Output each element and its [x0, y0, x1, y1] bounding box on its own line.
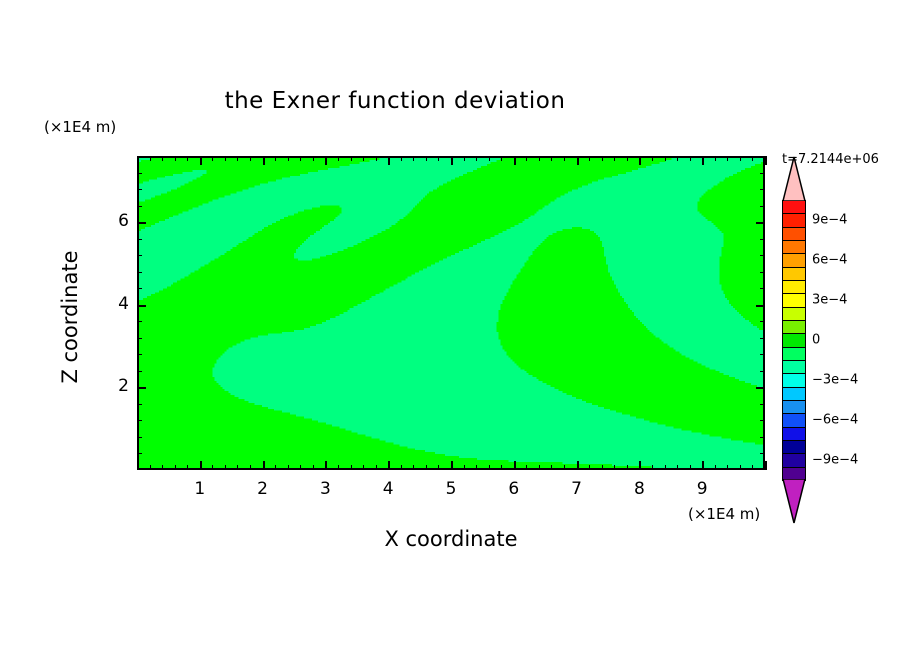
x-tick — [652, 156, 653, 161]
colorbar-band — [782, 440, 806, 454]
x-tick — [690, 465, 691, 470]
x-axis-unit-label: (×1E4 m) — [688, 505, 760, 523]
colorbar — [782, 200, 806, 480]
x-tick — [376, 465, 377, 470]
y-tick — [760, 173, 765, 174]
x-tick — [526, 156, 527, 161]
y-tick — [137, 338, 142, 339]
x-tick — [564, 465, 565, 470]
y-tick — [760, 338, 765, 339]
colorbar-under-arrow — [782, 479, 806, 524]
x-tick — [162, 156, 163, 161]
x-tick — [715, 156, 716, 161]
colorbar-over-arrow — [782, 156, 806, 201]
contour-plot-area — [137, 156, 765, 470]
colorbar-tick-label: 9e−4 — [812, 213, 847, 228]
x-tick — [765, 461, 767, 470]
x-tick — [740, 156, 741, 161]
x-tick — [727, 465, 728, 470]
x-tick — [589, 156, 590, 161]
x-tick — [438, 156, 439, 161]
x-tick — [514, 156, 516, 165]
y-tick — [760, 272, 765, 273]
x-tick — [665, 465, 666, 470]
x-tick — [300, 156, 301, 161]
x-tick — [489, 156, 490, 161]
colorbar-band — [782, 227, 806, 241]
x-tick — [363, 156, 364, 161]
x-tick — [577, 461, 579, 470]
x-tick — [677, 465, 678, 470]
x-tick — [338, 465, 339, 470]
y-tick — [756, 387, 765, 389]
x-tick — [602, 465, 603, 470]
x-tick — [451, 461, 453, 470]
y-tick — [137, 272, 142, 273]
x-tick-label: 1 — [180, 479, 220, 499]
y-tick — [760, 321, 765, 322]
y-tick — [137, 222, 146, 224]
chart-title: the Exner function deviation — [0, 88, 790, 114]
y-tick — [137, 321, 142, 322]
colorbar-band — [782, 400, 806, 414]
x-tick — [225, 156, 226, 161]
y-tick — [756, 222, 765, 224]
x-tick-label: 3 — [305, 479, 345, 499]
x-tick — [162, 465, 163, 470]
y-tick — [137, 437, 142, 438]
x-tick — [313, 465, 314, 470]
y-tick — [760, 453, 765, 454]
colorbar-band — [782, 213, 806, 227]
x-tick — [614, 156, 615, 161]
colorbar-band — [782, 347, 806, 361]
colorbar-band — [782, 240, 806, 254]
y-axis-unit-label: (×1E4 m) — [44, 118, 116, 136]
x-tick — [313, 156, 314, 161]
x-tick — [212, 465, 213, 470]
x-tick — [727, 156, 728, 161]
x-tick — [639, 156, 641, 165]
figure-canvas: the Exner function deviation (×1E4 m) (×… — [0, 0, 904, 654]
x-tick — [288, 156, 289, 161]
x-tick — [514, 461, 516, 470]
y-tick — [137, 189, 142, 190]
y-tick — [137, 404, 142, 405]
y-tick — [137, 255, 142, 256]
y-tick — [137, 305, 146, 307]
colorbar-tick-label: −9e−4 — [812, 453, 858, 468]
y-tick — [137, 420, 142, 421]
x-tick — [702, 156, 704, 165]
x-tick — [614, 465, 615, 470]
x-tick — [187, 465, 188, 470]
y-tick — [137, 453, 142, 454]
x-tick — [200, 156, 202, 165]
colorbar-band — [782, 293, 806, 307]
colorbar-band — [782, 200, 806, 214]
x-tick — [665, 156, 666, 161]
x-tick — [426, 465, 427, 470]
x-tick — [639, 461, 641, 470]
colorbar-tick-label: −6e−4 — [812, 413, 858, 428]
y-tick-label: 2 — [99, 376, 129, 396]
x-tick — [589, 465, 590, 470]
x-tick — [752, 465, 753, 470]
x-tick — [237, 156, 238, 161]
x-tick — [363, 465, 364, 470]
y-tick — [756, 305, 765, 307]
colorbar-tick-label: 6e−4 — [812, 253, 847, 268]
x-tick — [564, 156, 565, 161]
x-tick — [351, 465, 352, 470]
y-tick — [760, 404, 765, 405]
x-tick — [501, 465, 502, 470]
x-tick — [388, 156, 390, 165]
y-tick — [137, 173, 142, 174]
x-tick — [401, 465, 402, 470]
y-tick — [137, 371, 142, 372]
x-tick — [237, 465, 238, 470]
x-tick — [225, 465, 226, 470]
colorbar-tick-label: 0 — [812, 333, 820, 348]
x-tick — [325, 461, 327, 470]
x-tick — [413, 156, 414, 161]
x-tick — [765, 156, 767, 165]
x-tick — [652, 465, 653, 470]
x-tick — [325, 156, 327, 165]
x-tick — [187, 156, 188, 161]
x-tick — [376, 156, 377, 161]
colorbar-band — [782, 280, 806, 294]
colorbar-band — [782, 267, 806, 281]
x-tick — [539, 156, 540, 161]
colorbar-tick-label: 3e−4 — [812, 293, 847, 308]
y-tick-label: 6 — [99, 211, 129, 231]
x-tick — [388, 461, 390, 470]
colorbar-band — [782, 253, 806, 267]
y-tick-label: 4 — [99, 294, 129, 314]
x-tick — [677, 156, 678, 161]
x-tick — [150, 465, 151, 470]
x-tick — [175, 465, 176, 470]
x-tick — [602, 156, 603, 161]
y-tick — [760, 420, 765, 421]
y-tick — [760, 189, 765, 190]
x-tick — [338, 156, 339, 161]
x-tick — [627, 465, 628, 470]
x-tick — [175, 156, 176, 161]
x-tick — [715, 465, 716, 470]
y-tick — [760, 206, 765, 207]
x-tick — [690, 156, 691, 161]
colorbar-band — [782, 333, 806, 347]
x-tick — [702, 461, 704, 470]
x-tick — [551, 156, 552, 161]
y-tick — [760, 354, 765, 355]
x-tick-label: 8 — [619, 479, 659, 499]
x-tick — [200, 461, 202, 470]
x-tick — [438, 465, 439, 470]
x-tick — [539, 465, 540, 470]
x-tick — [489, 465, 490, 470]
x-tick — [740, 465, 741, 470]
x-tick — [275, 156, 276, 161]
x-tick — [464, 156, 465, 161]
x-tick — [288, 465, 289, 470]
x-tick — [275, 465, 276, 470]
x-tick — [476, 156, 477, 161]
colorbar-band — [782, 360, 806, 374]
contour-field — [139, 158, 763, 468]
x-tick — [501, 156, 502, 161]
y-tick — [137, 387, 146, 389]
x-tick-label: 7 — [557, 479, 597, 499]
x-tick-label: 9 — [682, 479, 722, 499]
y-tick — [137, 354, 142, 355]
x-tick — [401, 156, 402, 161]
x-tick — [300, 465, 301, 470]
x-tick-label: 6 — [494, 479, 534, 499]
x-tick — [426, 156, 427, 161]
y-tick — [760, 255, 765, 256]
x-tick — [577, 156, 579, 165]
y-tick — [760, 371, 765, 372]
x-tick-label: 5 — [431, 479, 471, 499]
colorbar-band — [782, 387, 806, 401]
x-tick — [250, 465, 251, 470]
y-tick — [760, 288, 765, 289]
y-tick — [760, 437, 765, 438]
x-tick — [413, 465, 414, 470]
y-tick — [760, 239, 765, 240]
x-tick — [752, 156, 753, 161]
x-tick-label: 2 — [243, 479, 283, 499]
colorbar-band — [782, 413, 806, 427]
x-tick — [212, 156, 213, 161]
colorbar-band — [782, 307, 806, 321]
x-tick — [263, 156, 265, 165]
x-tick — [351, 156, 352, 161]
colorbar-band — [782, 453, 806, 467]
y-axis-title: Z coordinate — [58, 207, 82, 427]
y-tick — [137, 239, 142, 240]
x-tick — [464, 465, 465, 470]
x-tick — [263, 461, 265, 470]
y-tick — [137, 288, 142, 289]
x-tick — [551, 465, 552, 470]
x-tick-label: 4 — [368, 479, 408, 499]
colorbar-band — [782, 320, 806, 334]
x-tick — [451, 156, 453, 165]
x-tick — [476, 465, 477, 470]
colorbar-band — [782, 427, 806, 441]
x-tick — [627, 156, 628, 161]
y-tick — [137, 206, 142, 207]
x-axis-title: X coordinate — [137, 527, 765, 551]
x-tick — [150, 156, 151, 161]
x-tick — [526, 465, 527, 470]
colorbar-band — [782, 373, 806, 387]
x-tick — [250, 156, 251, 161]
colorbar-tick-label: −3e−4 — [812, 373, 858, 388]
